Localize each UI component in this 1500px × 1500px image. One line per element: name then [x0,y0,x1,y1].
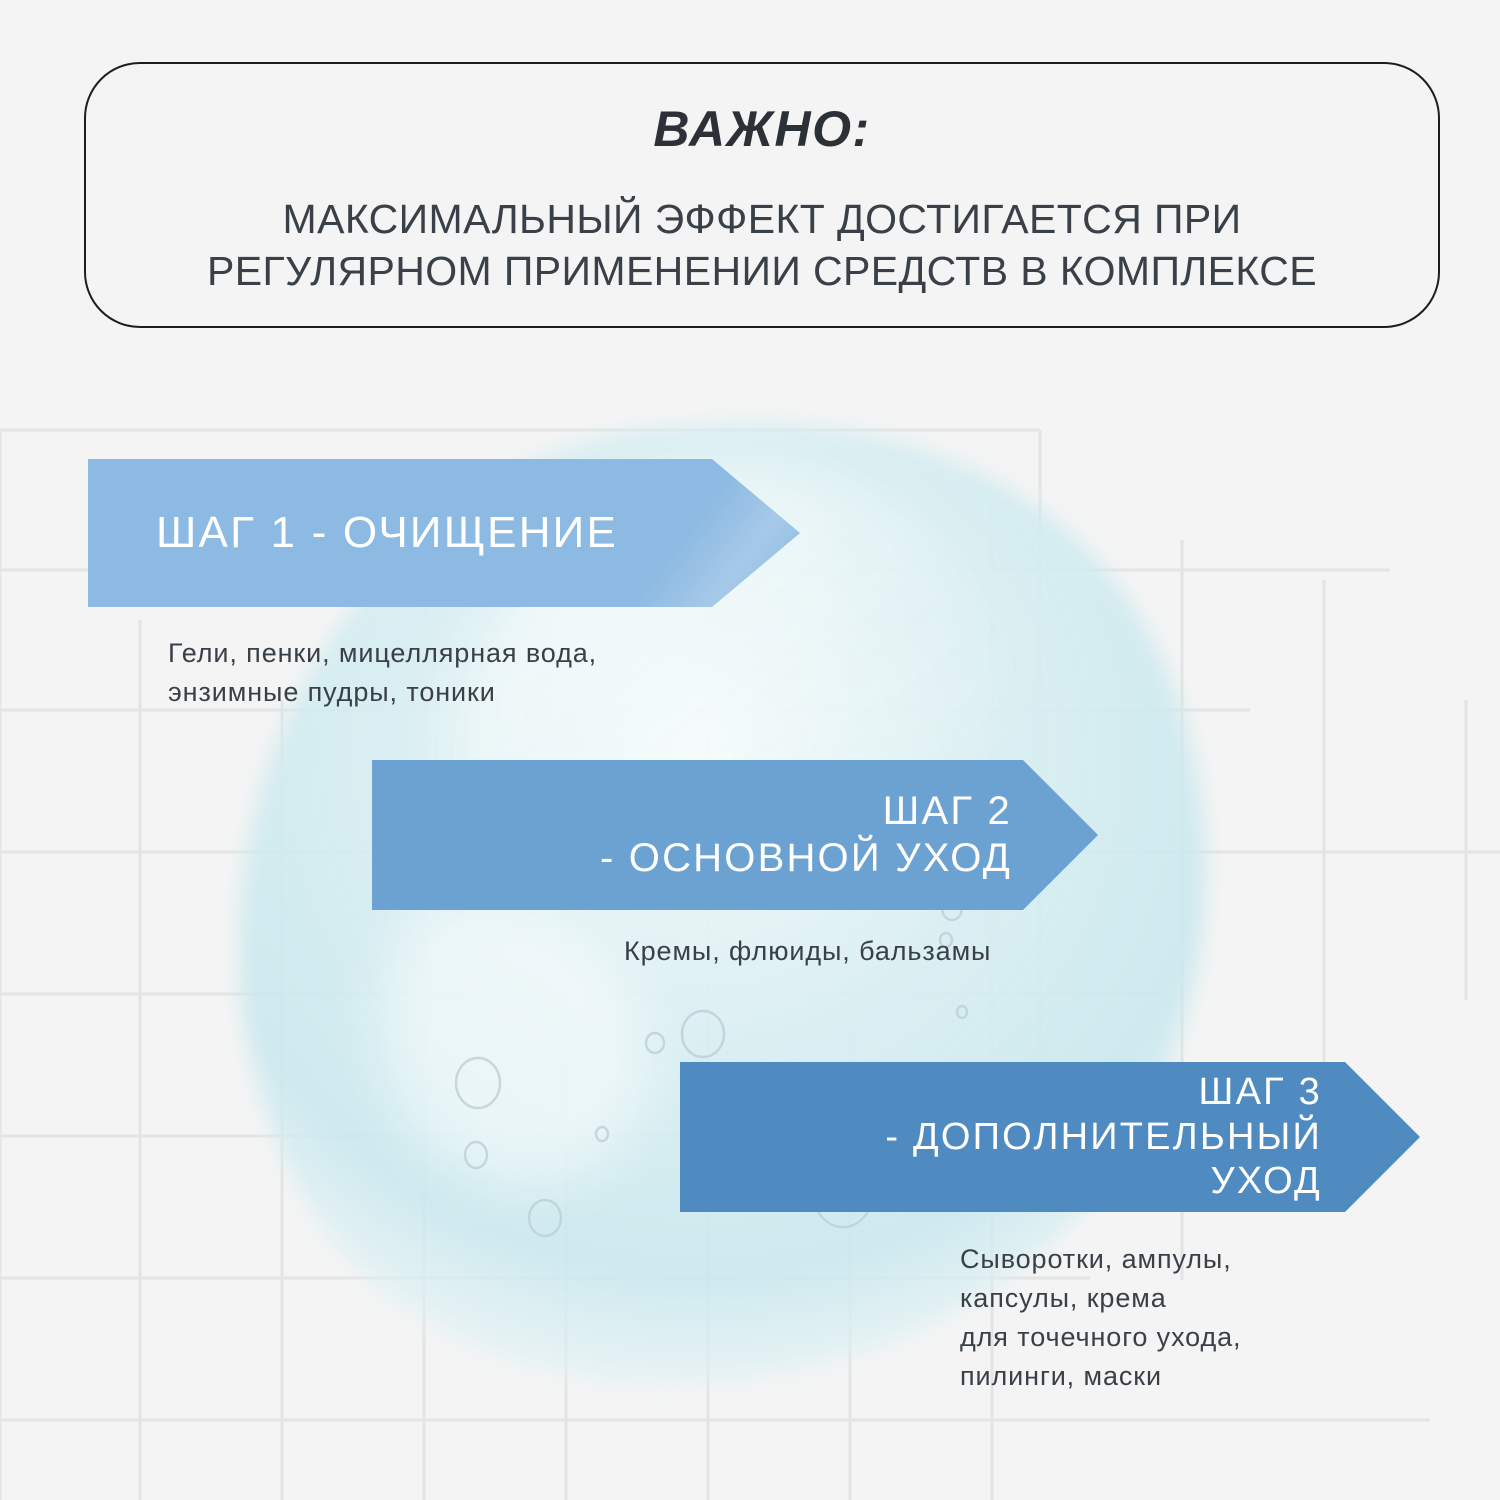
step-3-caption-line-3: для точечного ухода, [960,1318,1241,1357]
callout-subtitle-line-1: МАКСИМАЛЬНЫЙ ЭФФЕКТ ДОСТИГАЕТСЯ ПРИ [142,193,1382,245]
step-3-caption: Сыворотки, ампулы, капсулы, крема для то… [960,1240,1241,1397]
arrow-sheen-highlight [585,459,800,607]
step-3-label-block: ШАГ 3 - ДОПОЛНИТЕЛЬНЫЙ УХОД [885,1070,1322,1203]
step-2-caption-line-1: Кремы, флюиды, бальзамы [624,932,991,971]
step-3-caption-line-2: капсулы, крема [960,1279,1241,1318]
step-1-label-block: ШАГ 1 - ОЧИЩЕНИЕ [156,507,618,558]
important-callout-box: ВАЖНО: МАКСИМАЛЬНЫЙ ЭФФЕКТ ДОСТИГАЕТСЯ П… [84,62,1440,328]
step-3-caption-line-1: Сыворотки, ампулы, [960,1240,1241,1279]
callout-title: ВАЖНО: [653,102,870,157]
step-2-label-line-1: ШАГ 2 [600,788,1012,835]
step-arrow-2[interactable]: ШАГ 2 - ОСНОВНОЙ УХОД [372,760,1098,910]
step-arrow-3[interactable]: ШАГ 3 - ДОПОЛНИТЕЛЬНЫЙ УХОД [680,1062,1420,1212]
step-1-caption-line-1: Гели, пенки, мицеллярная вода, [168,634,597,673]
infographic-canvas: ВАЖНО: МАКСИМАЛЬНЫЙ ЭФФЕКТ ДОСТИГАЕТСЯ П… [0,0,1500,1500]
step-1-label-line-1: ШАГ 1 - ОЧИЩЕНИЕ [156,507,618,558]
step-3-label-line-1: ШАГ 3 [885,1070,1322,1114]
step-2-caption: Кремы, флюиды, бальзамы [624,932,991,971]
step-2-label-line-2: - ОСНОВНОЙ УХОД [600,835,1012,882]
step-1-caption: Гели, пенки, мицеллярная вода, энзимные … [168,634,597,712]
step-arrow-1[interactable]: ШАГ 1 - ОЧИЩЕНИЕ [88,459,800,607]
callout-subtitle: МАКСИМАЛЬНЫЙ ЭФФЕКТ ДОСТИГАЕТСЯ ПРИ РЕГУ… [142,193,1382,298]
step-2-label-block: ШАГ 2 - ОСНОВНОЙ УХОД [600,788,1012,882]
step-1-caption-line-2: энзимные пудры, тоники [168,673,597,712]
step-3-label-line-3: УХОД [885,1159,1322,1203]
step-3-caption-line-4: пилинги, маски [960,1357,1241,1396]
callout-subtitle-line-2: РЕГУЛЯРНОМ ПРИМЕНЕНИИ СРЕДСТВ В КОМПЛЕКС… [142,245,1382,297]
step-3-label-line-2: - ДОПОЛНИТЕЛЬНЫЙ [885,1115,1322,1159]
